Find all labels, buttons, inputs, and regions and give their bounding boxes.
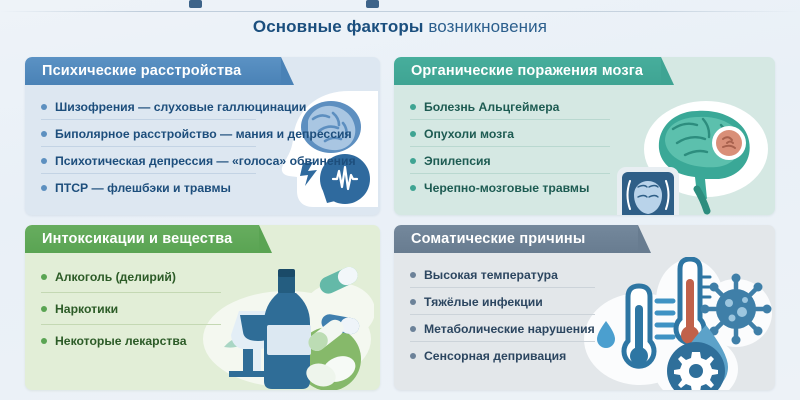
card-intoxication: Интоксикации и вещества	[25, 225, 380, 390]
card-somatic-list: Высокая температура Тяжёлые инфекции Мет…	[394, 261, 775, 369]
list-item: Некоторые лекарства	[25, 325, 380, 357]
list-item: Шизофрения — слуховые галлюцинации	[25, 93, 380, 120]
card-somatic: Соматические причины	[394, 225, 775, 390]
card-somatic-header: Соматические причины	[394, 225, 638, 253]
factors-grid: Психические расстройства Шизофрения — сл…	[0, 47, 800, 400]
list-item: Высокая температура	[394, 261, 775, 288]
card-intoxication-header: Интоксикации и вещества	[25, 225, 259, 253]
list-item: Сенсорная депривация	[394, 342, 775, 369]
card-somatic-body: Высокая температура Тяжёлые инфекции Мет…	[394, 253, 775, 375]
list-item: ПТСР — флешбэки и травмы	[25, 174, 380, 201]
card-psychic-body: Шизофрения — слуховые галлюцинации Бипол…	[25, 85, 380, 207]
top-stub-right	[366, 0, 379, 8]
card-psychic-list: Шизофрения — слуховые галлюцинации Бипол…	[25, 93, 380, 201]
card-psychic: Психические расстройства Шизофрения — сл…	[25, 57, 380, 215]
list-item: Болезнь Альцгеймера	[394, 93, 775, 120]
page-title-regular: возникновения	[424, 17, 548, 36]
list-item: Тяжёлые инфекции	[394, 288, 775, 315]
list-item: Черепно-мозговые травмы	[394, 174, 775, 201]
list-item: Метаболические нарушения	[394, 315, 775, 342]
card-intoxication-body: Алкоголь (делирий) Наркотики Некоторые л…	[25, 253, 380, 363]
card-organic-header: Органические поражения мозга	[394, 57, 661, 85]
card-organic-list: Болезнь Альцгеймера Опухоли мозга Эпилеп…	[394, 93, 775, 201]
card-organic: Органические поражения мозга Болезнь Аль	[394, 57, 775, 215]
list-item: Эпилепсия	[394, 147, 775, 174]
card-organic-body: Болезнь Альцгеймера Опухоли мозга Эпилеп…	[394, 85, 775, 207]
page-title-bold: Основные факторы	[253, 17, 424, 36]
list-item: Наркотики	[25, 293, 380, 325]
list-item: Биполярное расстройство — мания и депрес…	[25, 120, 380, 147]
card-psychic-header: Психические расстройства	[25, 57, 281, 85]
page-title: Основные факторы возникновения	[0, 17, 800, 37]
list-item: Алкоголь (делирий)	[25, 261, 380, 293]
top-stub-left	[189, 0, 202, 8]
list-item: Психотическая депрессия — «голоса» обвин…	[25, 147, 380, 174]
top-divider-rule	[0, 11, 800, 12]
card-intoxication-list: Алкоголь (делирий) Наркотики Некоторые л…	[25, 261, 380, 357]
list-item: Опухоли мозга	[394, 120, 775, 147]
